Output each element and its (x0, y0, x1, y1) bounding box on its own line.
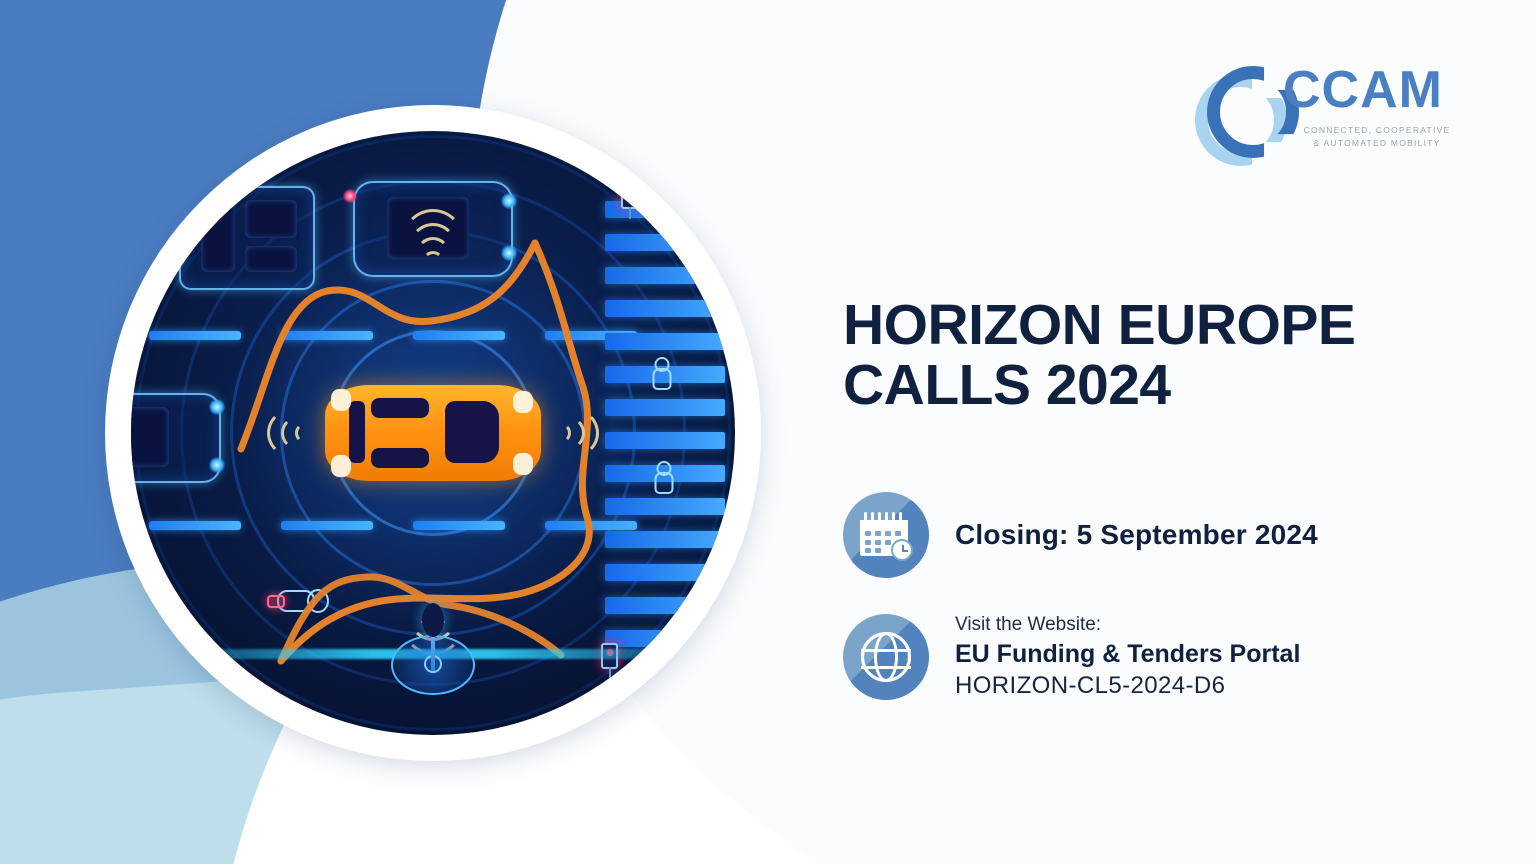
closing-date-text: Closing: 5 September 2024 (955, 519, 1318, 551)
ccam-tagline: CONNECTED, COOPERATIVE & AUTOMATED MOBIL… (1287, 124, 1467, 150)
closing-date-text-wrap: Closing: 5 September 2024 (955, 519, 1318, 551)
ccam-tagline-line2: & AUTOMATED MOBILITY (1287, 137, 1467, 150)
closing-date-row: Closing: 5 September 2024 (843, 492, 1318, 578)
ccam-tagline-line1: CONNECTED, COOPERATIVE (1287, 124, 1467, 137)
page-title-line2: CALLS 2024 (843, 355, 1503, 415)
website-row: Visit the Website: EU Funding & Tenders … (843, 612, 1300, 701)
ccam-wordmark: CCAM (1283, 64, 1443, 116)
poster-canvas: CCAM CONNECTED, COOPERATIVE & AUTOMATED … (0, 0, 1536, 864)
page-title-line1: HORIZON EUROPE (843, 295, 1503, 355)
ccam-double-c-icon (1195, 66, 1275, 146)
website-text-wrap: Visit the Website: EU Funding & Tenders … (955, 612, 1300, 701)
ego-vehicle (325, 385, 541, 481)
content-panel: CCAM CONNECTED, COOPERATIVE & AUTOMATED … (843, 0, 1536, 864)
website-portal-name[interactable]: EU Funding & Tenders Portal (955, 638, 1300, 671)
calendar-clock-icon (843, 492, 929, 578)
page-title: HORIZON EUROPE CALLS 2024 (843, 295, 1503, 416)
website-label: Visit the Website: (955, 612, 1300, 638)
radar-signal-front-icon (405, 231, 461, 271)
call-identifier: HORIZON-CL5-2024-D6 (955, 670, 1300, 701)
hero-illustration (131, 131, 735, 735)
traffic-light (621, 183, 638, 209)
radar-signal-left-icon (275, 405, 315, 461)
ccam-logo: CCAM CONNECTED, COOPERATIVE & AUTOMATED … (1195, 62, 1461, 166)
globe-icon (843, 614, 929, 700)
radar-signal-right-icon (551, 405, 591, 461)
sensor-beacon-icon (393, 607, 473, 695)
